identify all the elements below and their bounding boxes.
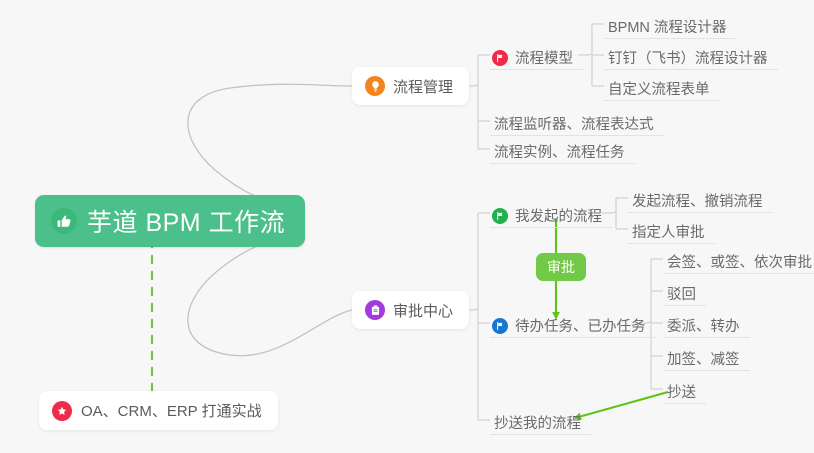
flag-icon	[492, 318, 508, 334]
star-icon	[52, 401, 72, 421]
node-process-instance-task[interactable]: 流程实例、流程任务	[490, 134, 635, 164]
node-label: 抄送	[667, 386, 696, 401]
approval-flow-tag-label: 审批	[547, 257, 575, 277]
node-label: 抄送我的流程	[494, 417, 581, 432]
node-label: 钉钉（飞书）流程设计器	[608, 52, 768, 67]
node-process-listener-expression[interactable]: 流程监听器、流程表达式	[490, 106, 664, 136]
approval-flow-tag: 审批	[536, 253, 586, 281]
node-label: 流程模型	[515, 52, 573, 67]
node-label: 待办任务、已办任务	[515, 320, 646, 335]
node-label: 流程实例、流程任务	[494, 146, 625, 161]
node-todo-done-task[interactable]: 待办任务、已办任务	[490, 308, 656, 338]
node-start-cancel-process[interactable]: 发起流程、撤销流程	[628, 183, 773, 213]
mindmap-canvas: 芋道 BPM 工作流 流程管理 流程模型 BPMN 流程设计器 钉钉（飞书）流程…	[0, 0, 814, 453]
node-add-remove-sign[interactable]: 加签、减签	[663, 341, 750, 371]
root-label: 芋道 BPM 工作流	[87, 203, 285, 239]
node-label: BPMN 流程设计器	[608, 21, 726, 36]
node-label: 流程监听器、流程表达式	[494, 118, 654, 133]
node-process-model[interactable]: 流程模型	[490, 40, 583, 70]
node-dingtalk-feishu-designer[interactable]: 钉钉（飞书）流程设计器	[604, 40, 778, 70]
node-label: 加签、减签	[667, 353, 740, 368]
node-bpmn-designer[interactable]: BPMN 流程设计器	[604, 9, 736, 39]
node-label: 驳回	[667, 288, 696, 303]
node-label: 委派、转办	[667, 320, 740, 335]
branch-label: 流程管理	[393, 76, 453, 97]
clipboard-icon	[365, 300, 385, 320]
node-assignee-approval[interactable]: 指定人审批	[628, 214, 715, 244]
node-carbon-copy[interactable]: 抄送	[663, 374, 706, 404]
thumbs-up-icon	[51, 208, 77, 234]
lightbulb-icon	[365, 76, 385, 96]
node-label: 会签、或签、依次审批	[667, 256, 812, 271]
branch-label: 审批中心	[393, 300, 453, 321]
node-label: 发起流程、撤销流程	[632, 195, 763, 210]
branch-approval-center[interactable]: 审批中心	[352, 291, 469, 329]
node-label: 指定人审批	[632, 226, 705, 241]
node-label: 自定义流程表单	[608, 83, 710, 98]
node-reject[interactable]: 驳回	[663, 276, 706, 306]
node-custom-process-form[interactable]: 自定义流程表单	[604, 71, 720, 101]
root-node[interactable]: 芋道 BPM 工作流	[35, 195, 305, 247]
node-counter-or-sequential-sign[interactable]: 会签、或签、依次审批	[663, 244, 814, 274]
node-label: 我发起的流程	[515, 210, 602, 225]
branch-process-management[interactable]: 流程管理	[352, 67, 469, 105]
node-cc-to-me-process[interactable]: 抄送我的流程	[490, 405, 591, 435]
flag-icon	[492, 208, 508, 224]
node-my-started-process[interactable]: 我发起的流程	[490, 198, 612, 228]
node-delegate-transfer[interactable]: 委派、转办	[663, 308, 750, 338]
bottom-note[interactable]: OA、CRM、ERP 打通实战	[39, 391, 278, 430]
flag-icon	[492, 50, 508, 66]
bottom-note-label: OA、CRM、ERP 打通实战	[81, 400, 262, 421]
